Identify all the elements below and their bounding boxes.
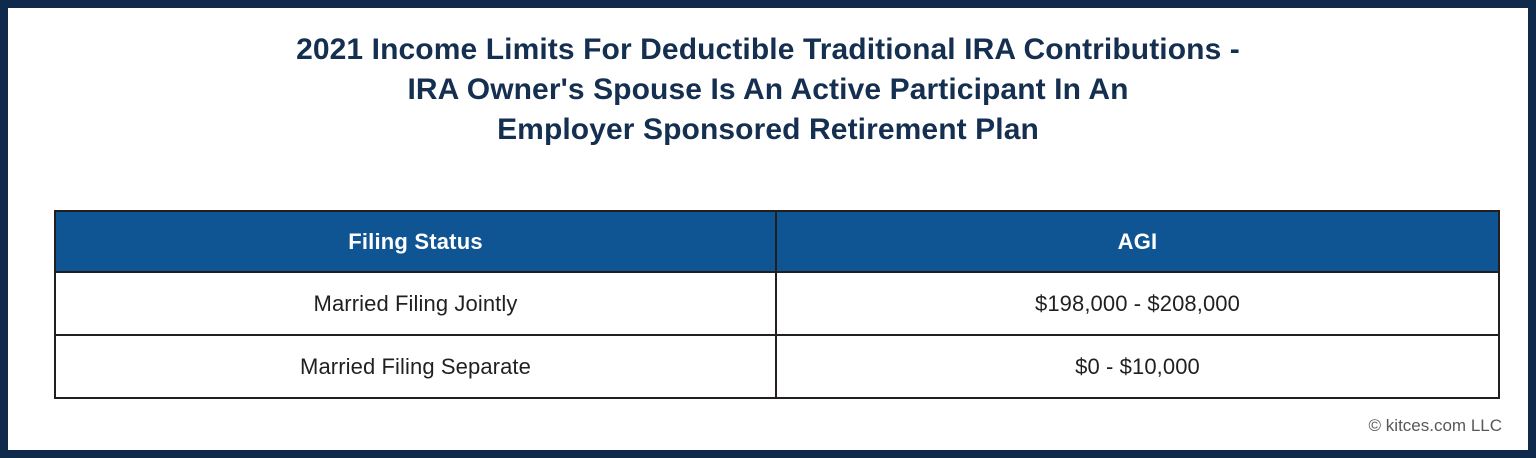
page-title: 2021 Income Limits For Deductible Tradit…	[8, 8, 1528, 150]
table-body: Married Filing Jointly $198,000 - $208,0…	[55, 272, 1499, 398]
page-title-line-1: 2021 Income Limits For Deductible Tradit…	[48, 30, 1488, 70]
income-limits-table: Filing Status AGI Married Filing Jointly…	[54, 210, 1500, 399]
column-header-agi: AGI	[776, 211, 1499, 272]
cell-agi: $198,000 - $208,000	[776, 272, 1499, 335]
infographic-card: 2021 Income Limits For Deductible Tradit…	[0, 0, 1536, 458]
cell-filing-status: Married Filing Jointly	[55, 272, 776, 335]
cell-agi: $0 - $10,000	[776, 335, 1499, 398]
table-row: Married Filing Separate $0 - $10,000	[55, 335, 1499, 398]
copyright-credit: © kitces.com LLC	[1369, 416, 1502, 436]
table-head: Filing Status AGI	[55, 211, 1499, 272]
column-header-filing-status: Filing Status	[55, 211, 776, 272]
infographic-inner: 2021 Income Limits For Deductible Tradit…	[8, 8, 1528, 450]
page-title-line-3: Employer Sponsored Retirement Plan	[48, 110, 1488, 150]
income-limits-table-wrapper: Filing Status AGI Married Filing Jointly…	[54, 210, 1498, 399]
cell-filing-status: Married Filing Separate	[55, 335, 776, 398]
table-row: Married Filing Jointly $198,000 - $208,0…	[55, 272, 1499, 335]
page-title-line-2: IRA Owner's Spouse Is An Active Particip…	[48, 70, 1488, 110]
table-header-row: Filing Status AGI	[55, 211, 1499, 272]
